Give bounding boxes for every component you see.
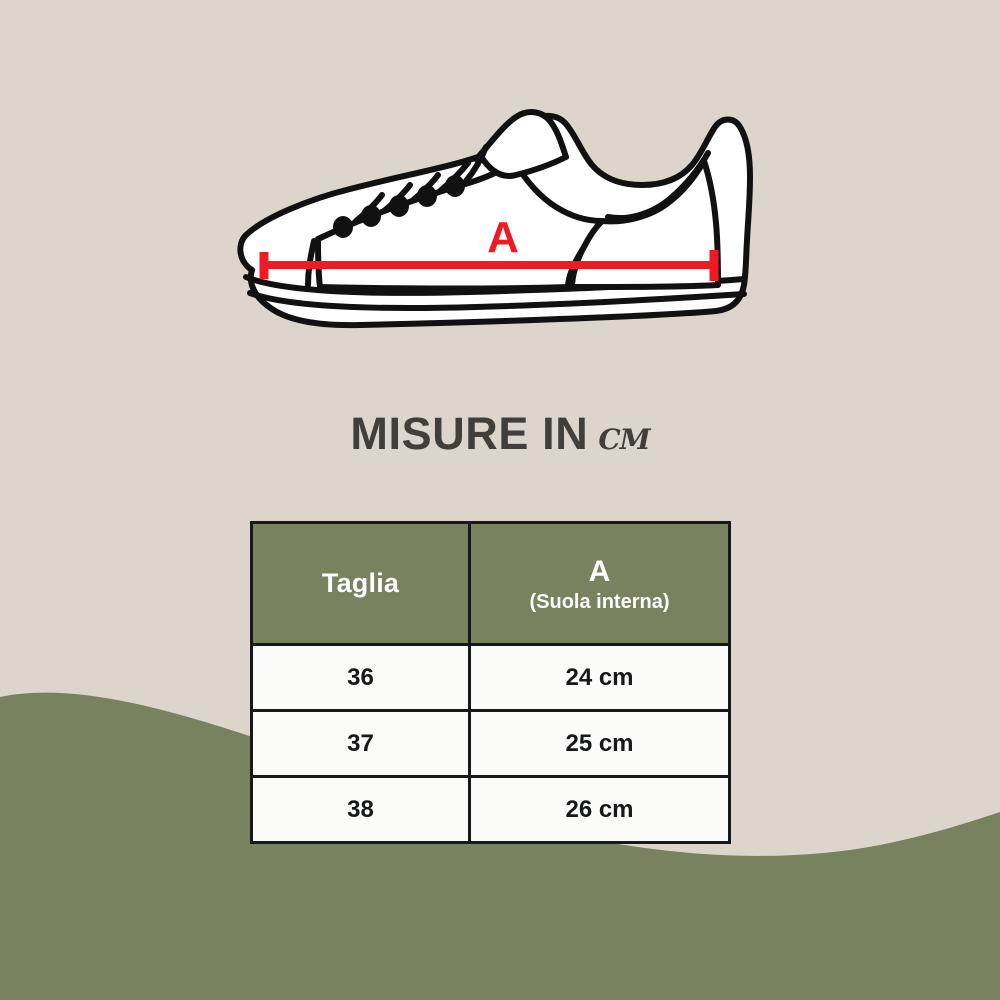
cell-measure: 24 cm: [470, 645, 730, 711]
table-row: 37 25 cm: [252, 711, 730, 777]
sneaker-illustration: A: [210, 95, 780, 345]
sneaker-svg: A: [210, 95, 780, 345]
cell-size: 36: [252, 645, 470, 711]
header-sublabel-suola-interna: (Suola interna): [475, 591, 724, 613]
table-header-row: Taglia A (Suola interna): [252, 523, 730, 645]
measurement-label-a: A: [487, 213, 519, 262]
cell-measure: 25 cm: [470, 711, 730, 777]
size-table-head: Taglia A (Suola interna): [252, 523, 730, 645]
page-title-unit: cm: [598, 412, 649, 459]
page-title-main: MISURE IN: [350, 408, 588, 459]
cell-measure: 26 cm: [470, 777, 730, 843]
size-table-body: 36 24 cm 37 25 cm 38 26 cm: [252, 645, 730, 843]
cell-size: 38: [252, 777, 470, 843]
header-label-a: A: [475, 555, 724, 588]
header-cell-taglia: Taglia: [252, 523, 470, 645]
table-row: 36 24 cm: [252, 645, 730, 711]
size-table: Taglia A (Suola interna) 36 24 cm 37 25 …: [250, 521, 731, 844]
page-title: MISURE INcm: [0, 408, 1000, 460]
size-chart-canvas: A MISURE INcm Taglia A (Suola interna): [0, 0, 1000, 1000]
header-label-taglia: Taglia: [322, 568, 399, 598]
header-cell-measure: A (Suola interna): [470, 523, 730, 645]
cell-size: 37: [252, 711, 470, 777]
table-row: 38 26 cm: [252, 777, 730, 843]
